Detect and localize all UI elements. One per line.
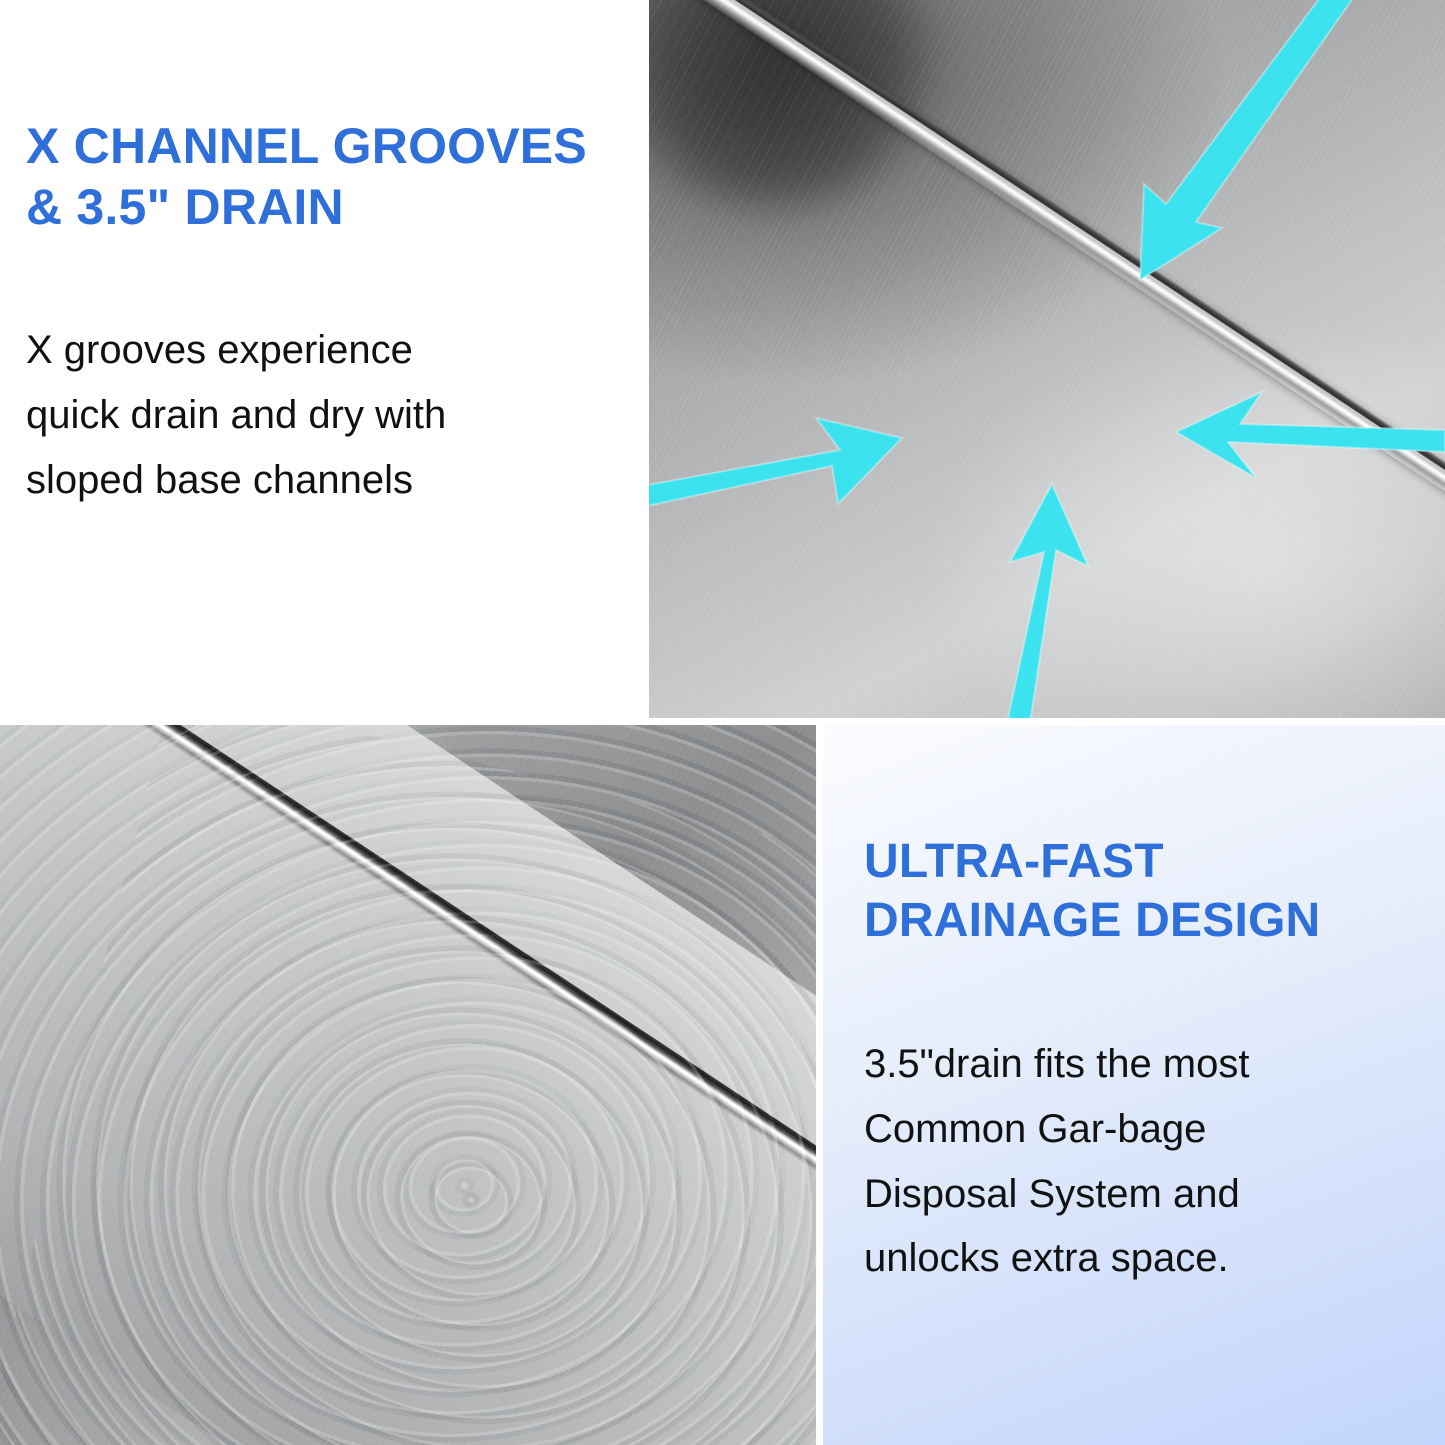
x-channel-grooves-body: X grooves experiencequick drain and dry … (26, 318, 606, 512)
infographic-canvas: X CHANNEL GROOVES& 3.5" DRAIN X grooves … (0, 0, 1445, 1445)
arrow-from-bottom-icon (1008, 484, 1088, 723)
top-right-photo-panel (648, 0, 1445, 723)
body-line-3: sloped base channels (26, 458, 413, 502)
cyan-arrow-group (648, 0, 1445, 723)
bottom-right-text-block: ULTRA-FASTDRAINAGE DESIGN 3.5"drain fits… (864, 833, 1434, 1291)
brushed-texture-overlay (0, 723, 822, 1445)
headline-line-1: ULTRA-FAST (864, 835, 1164, 888)
vertical-divider-bottom (816, 723, 823, 1445)
body-line-1: 3.5"drain fits the most (864, 1042, 1250, 1086)
x-channel-grooves-headline: X CHANNEL GROOVES& 3.5" DRAIN (26, 116, 636, 238)
ultra-fast-drainage-headline: ULTRA-FASTDRAINAGE DESIGN (864, 833, 1434, 950)
top-left-text-block: X CHANNEL GROOVES& 3.5" DRAIN X grooves … (26, 116, 636, 512)
body-line-1: X grooves experience (26, 328, 413, 372)
vertical-divider-top (644, 0, 649, 723)
horizontal-divider (0, 718, 1445, 725)
body-line-3: Disposal System and (864, 1172, 1240, 1216)
water-draining-photo (0, 723, 822, 1445)
headline-line-2: DRAINAGE DESIGN (864, 894, 1320, 947)
headline-line-1: X CHANNEL GROOVES (26, 118, 587, 174)
headline-line-2: & 3.5" DRAIN (26, 179, 344, 235)
body-line-4: unlocks extra space. (864, 1236, 1229, 1280)
body-line-2: Common Gar-bage (864, 1107, 1206, 1151)
ultra-fast-drainage-body: 3.5"drain fits the mostCommon Gar-bageDi… (864, 1032, 1384, 1291)
arrow-from-top-right-icon (1140, 0, 1370, 280)
body-line-2: quick drain and dry with (26, 393, 446, 437)
top-left-text-panel: X CHANNEL GROOVES& 3.5" DRAIN X grooves … (0, 0, 648, 723)
arrow-from-right-icon (1176, 392, 1445, 478)
bottom-left-photo-panel (0, 723, 822, 1445)
brushed-steel-sink-photo (648, 0, 1445, 723)
bottom-right-text-panel: ULTRA-FASTDRAINAGE DESIGN 3.5"drain fits… (822, 723, 1445, 1445)
arrow-from-left-icon (648, 418, 902, 508)
